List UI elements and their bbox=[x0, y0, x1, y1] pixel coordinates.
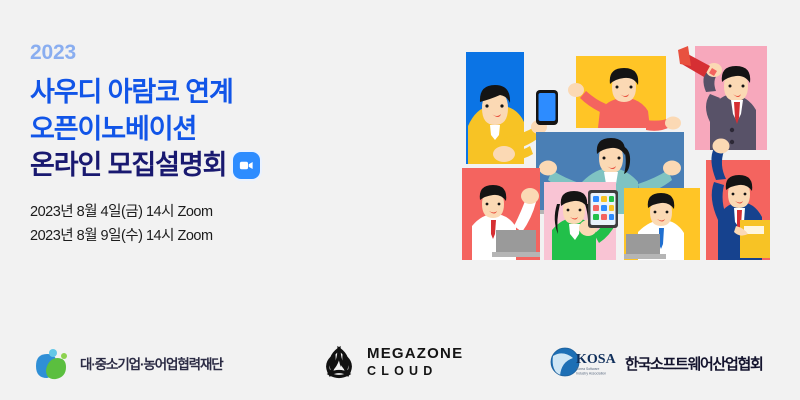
kosa-mark-sub-1: Korea Software bbox=[576, 367, 599, 371]
event-year: 2023 bbox=[30, 42, 430, 63]
heading-line-2: 오픈이노베이션 bbox=[30, 111, 430, 148]
heading-line-3-row: 온라인 모집설명회 bbox=[30, 147, 430, 184]
panel-coral-man-folder bbox=[706, 139, 770, 261]
heading-line-1: 사우디 아람코 연계 bbox=[30, 74, 430, 111]
schedule-list: 2023년 8월 4일(금) 14시 Zoom 2023년 8월 9일(수) 1… bbox=[30, 201, 430, 248]
kosa-mark-sub-2: Industry Association bbox=[576, 372, 606, 376]
koref-logo-text: 대·중소기업·농어업협력재단 bbox=[80, 353, 223, 373]
banner-text-block: 2023 사우디 아람코 연계 오픈이노베이션 온라인 모집설명회 2023년 … bbox=[30, 42, 430, 248]
partner-logo-bar: 대·중소기업·농어업협력재단 MEGAZONE CLOUD bbox=[0, 330, 800, 400]
panel-red-man-laptop bbox=[462, 168, 540, 260]
heading-line-3: 온라인 모집설명회 bbox=[30, 147, 226, 184]
megazone-logo-line2: CLOUD bbox=[367, 365, 463, 378]
online-meeting-collage-illustration bbox=[448, 30, 788, 320]
event-banner: 2023 사우디 아람코 연계 오픈이노베이션 온라인 모집설명회 2023년 … bbox=[0, 0, 800, 400]
panel-yellow-man-laptop bbox=[624, 188, 700, 260]
kosa-sphere-mark: KOSA Korea Software Industry Association bbox=[548, 344, 616, 382]
panel-pink-man-megaphone bbox=[678, 46, 767, 150]
schedule-item-2: 2023년 8월 9일(수) 14시 Zoom bbox=[30, 225, 430, 248]
triquetra-knot-mark bbox=[320, 343, 358, 381]
schedule-item-1: 2023년 8월 4일(금) 14시 Zoom bbox=[30, 201, 430, 224]
kosa-logo: KOSA Korea Software Industry Association… bbox=[548, 344, 763, 382]
blue-green-droplet-mark bbox=[32, 346, 72, 380]
panel-yellow-woman-waving bbox=[568, 56, 681, 131]
kosa-logo-text: 한국소프트웨어산업협회 bbox=[625, 353, 763, 374]
megazone-cloud-logo: MEGAZONE CLOUD bbox=[320, 343, 463, 381]
megazone-logo-line1: MEGAZONE bbox=[367, 346, 463, 361]
zoom-video-icon bbox=[233, 152, 260, 179]
kosa-mark-label: KOSA bbox=[576, 352, 616, 367]
koref-logo: 대·중소기업·농어업협력재단 bbox=[32, 346, 223, 380]
panel-pink-woman-tablet bbox=[544, 182, 618, 260]
